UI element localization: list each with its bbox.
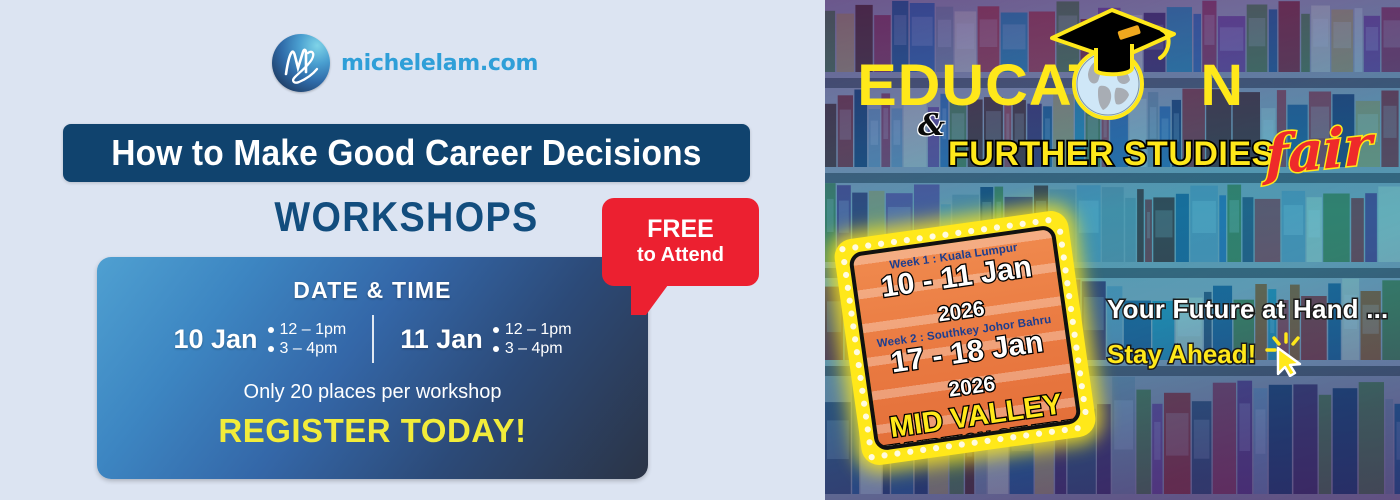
headline-further-studies: FURTHER STUDIES: [948, 135, 1275, 174]
bullet-icon: [268, 327, 274, 333]
places-note: Only 20 places per workshop: [97, 381, 648, 404]
bullet-icon: [493, 346, 499, 352]
date-time-row: 10 Jan 12 – 1pm 3 – 4pm 11 Ja: [97, 315, 648, 363]
headline-education-tail: N: [1200, 53, 1244, 118]
date-time-heading: DATE & TIME: [97, 277, 648, 304]
headline-fair: fair: [1265, 112, 1372, 188]
date-entry-1: 10 Jan 12 – 1pm 3 – 4pm: [173, 321, 346, 358]
time-label: 12 – 1pm: [505, 321, 572, 339]
time-label: 3 – 4pm: [280, 340, 338, 358]
free-badge-line1: FREE: [647, 216, 714, 242]
ml-monogram-svg: [272, 34, 330, 92]
click-cursor-icon: [1264, 331, 1310, 377]
graduation-cap-icon: [1044, 4, 1184, 80]
bullet-icon: [493, 327, 499, 333]
fair-tagline: Your Future at Hand ... Stay Ahead!: [1107, 294, 1397, 377]
brand-name: michelelam.com: [341, 51, 538, 76]
date-time-card: DATE & TIME 10 Jan 12 – 1pm 3 – 4pm: [97, 257, 648, 479]
tagline-line1: Your Future at Hand ...: [1107, 294, 1397, 325]
workshop-title-bar: How to Make Good Career Decisions: [63, 124, 750, 182]
education-fair-panel: EDUCATIN & FURTHER STUDIES fair: [825, 0, 1400, 500]
week1-year: 2026: [937, 297, 986, 326]
time-item: 3 – 4pm: [268, 340, 347, 358]
brand-logo[interactable]: michelelam.com: [272, 34, 538, 92]
register-cta[interactable]: REGISTER TODAY!: [97, 412, 648, 450]
date-entry-2: 11 Jan 12 – 1pm 3 – 4pm: [400, 321, 571, 358]
week2-year: 2026: [947, 372, 996, 401]
time-label: 12 – 1pm: [280, 321, 347, 339]
headline-ampersand: &: [918, 108, 945, 143]
date-label-1: 10 Jan: [173, 324, 257, 355]
time-label: 3 – 4pm: [505, 340, 563, 358]
fair-headline: EDUCATIN & FURTHER STUDIES fair: [825, 0, 1400, 200]
ml-monogram-logo-icon: [272, 34, 330, 92]
tagline-line2: Stay Ahead!: [1107, 339, 1256, 370]
date-label-2: 11 Jan: [400, 324, 483, 355]
page-title: How to Make Good Career Decisions: [111, 132, 701, 174]
event-details-badge: Week 1 : Kuala Lumpur 10 - 11 Jan 2026 W…: [841, 218, 1088, 459]
free-to-attend-badge: FREE to Attend: [602, 198, 759, 286]
workshop-panel: michelelam.com How to Make Good Career D…: [0, 0, 825, 500]
tagline-row2: Stay Ahead!: [1107, 331, 1397, 377]
time-item: 3 – 4pm: [493, 340, 572, 358]
badge-body: Week 1 : Kuala Lumpur 10 - 11 Jan 2026 W…: [848, 224, 1082, 451]
times-list-2: 12 – 1pm 3 – 4pm: [493, 321, 572, 358]
times-list-1: 12 – 1pm 3 – 4pm: [268, 321, 347, 358]
free-badge-line2: to Attend: [637, 243, 724, 268]
date-divider: [372, 315, 374, 363]
time-item: 12 – 1pm: [493, 321, 572, 339]
time-item: 12 – 1pm: [268, 321, 347, 339]
banner-root: michelelam.com How to Make Good Career D…: [0, 0, 1400, 500]
bullet-icon: [268, 346, 274, 352]
